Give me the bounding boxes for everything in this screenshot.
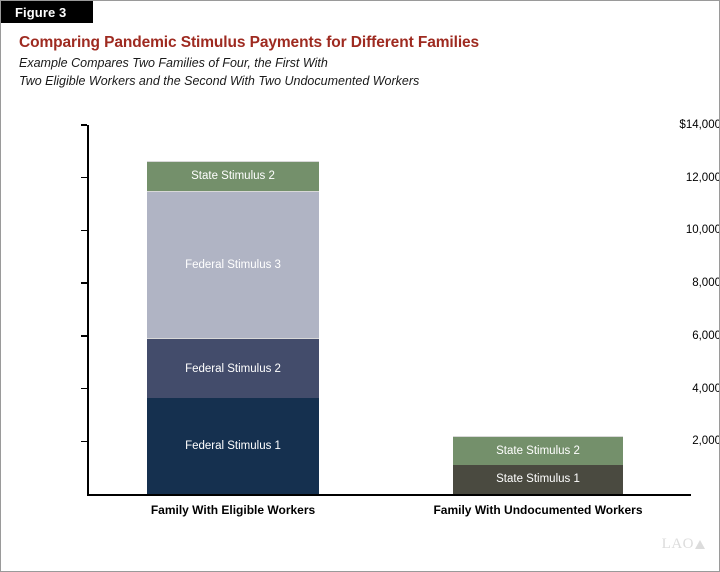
bar-segment[interactable]: State Stimulus 2 <box>453 436 623 465</box>
bar-segment[interactable]: State Stimulus 2 <box>147 161 319 191</box>
lao-logo: LAO <box>662 536 705 553</box>
x-axis-category-label: Family With Eligible Workers <box>97 503 369 517</box>
bar-segment[interactable]: Federal Stimulus 3 <box>147 191 319 339</box>
y-axis-tick <box>81 124 87 126</box>
y-axis-tick <box>81 335 87 337</box>
bar-segment[interactable]: Federal Stimulus 2 <box>147 338 319 397</box>
y-axis-tick-label: 8,000 <box>647 277 720 289</box>
y-axis-tick <box>81 282 87 284</box>
y-axis-tick <box>81 177 87 179</box>
y-axis-tick <box>81 230 87 232</box>
x-axis-line <box>87 494 691 496</box>
x-axis-category-label: Family With Undocumented Workers <box>403 503 673 517</box>
y-axis-tick-label: $14,000 <box>647 119 720 131</box>
stacked-bar[interactable]: State Stimulus 1State Stimulus 2 <box>453 125 623 494</box>
bar-segment[interactable]: Federal Stimulus 1 <box>147 398 319 494</box>
y-axis-tick-label: 2,000 <box>647 435 720 447</box>
y-axis-tick-label: 12,000 <box>647 172 720 184</box>
y-axis-line <box>87 125 89 495</box>
figure-container: Figure 3 Comparing Pandemic Stimulus Pay… <box>0 0 720 572</box>
stacked-bar[interactable]: Federal Stimulus 1Federal Stimulus 2Fede… <box>147 125 319 494</box>
y-axis-tick <box>81 441 87 443</box>
y-axis-tick-label: 10,000 <box>647 224 720 236</box>
bar-segment[interactable]: State Stimulus 1 <box>453 465 623 494</box>
y-axis-tick-label: 6,000 <box>647 330 720 342</box>
lao-logo-text: LAO <box>662 536 694 553</box>
y-axis-tick <box>81 388 87 390</box>
chart-plot-area: $14,00012,00010,0008,0006,0004,0002,000 … <box>1 1 720 572</box>
y-axis-tick-label: 4,000 <box>647 383 720 395</box>
lao-logo-triangle-icon <box>695 540 705 549</box>
